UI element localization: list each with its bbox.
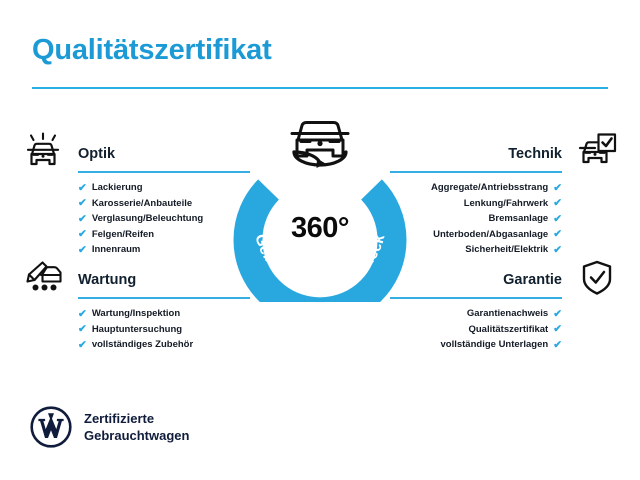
list-item-label: Lenkung/Fahrwerk (464, 196, 548, 212)
check-icon: ✔ (78, 183, 87, 194)
check-icon: ✔ (553, 183, 562, 194)
checklist-garantie: Garantienachweis✔ Qualitätszertifikat✔ v… (441, 306, 563, 353)
check-icon: ✔ (553, 229, 562, 240)
footer-line-2: Gebrauchtwagen (84, 427, 189, 444)
shield-check-icon (576, 258, 618, 298)
list-item-label: Hauptuntersuchung (92, 322, 182, 338)
list-item: Lenkung/Fahrwerk✔ (431, 196, 562, 212)
list-item-label: vollständige Unterlagen (441, 337, 549, 353)
quality-certificate-sheet: Qualitätszertifikat Optik (0, 0, 640, 480)
list-item: Garantienachweis✔ (441, 306, 563, 322)
badge-degrees-label: 360° (228, 212, 412, 245)
check-icon: ✔ (553, 324, 562, 335)
list-item-label: Karosserie/Anbauteile (92, 196, 192, 212)
section-heading: Garantie (503, 272, 562, 288)
check-icon: ✔ (553, 198, 562, 209)
checklist-technik: Aggregate/Antriebsstrang✔ Lenkung/Fahrwe… (431, 180, 562, 258)
checklist-optik: ✔Lackierung ✔Karosserie/Anbauteile ✔Verg… (78, 180, 203, 258)
page-title: Qualitätszertifikat (32, 34, 272, 67)
badge-360-gebrauchtwagen-check: Gebrauchtwagen-Check 360° (228, 112, 412, 302)
list-item-label: Garantienachweis (467, 306, 548, 322)
section-wartung: Wartung ✔Wartung/Inspektion ✔Hauptunters… (20, 254, 250, 359)
check-icon: ✔ (78, 198, 87, 209)
check-icon: ✔ (78, 309, 87, 320)
check-icon: ✔ (553, 340, 562, 351)
section-heading: Optik (78, 146, 115, 162)
section-divider (78, 171, 250, 173)
check-icon: ✔ (553, 309, 562, 320)
check-icon: ✔ (78, 229, 87, 240)
list-item: ✔Lackierung (78, 180, 203, 196)
list-item: ✔Hauptuntersuchung (78, 322, 193, 338)
list-item: ✔vollständiges Zubehör (78, 337, 193, 353)
section-technik: Technik Aggregate/Antriebsstrang✔ Lenkun… (390, 128, 620, 248)
check-icon: ✔ (553, 214, 562, 225)
list-item: ✔Karosserie/Anbauteile (78, 196, 203, 212)
list-item-label: Lackierung (92, 180, 143, 196)
list-item-label: Wartung/Inspektion (92, 306, 180, 322)
footer-line-1: Zertifizierte (84, 410, 189, 427)
section-divider (390, 297, 562, 299)
section-divider (390, 171, 562, 173)
list-item: vollständige Unterlagen✔ (441, 337, 563, 353)
section-garantie: Garantie Garantienachweis✔ Qualitätszert… (390, 254, 620, 359)
checklist-wartung: ✔Wartung/Inspektion ✔Hauptuntersuchung ✔… (78, 306, 193, 353)
car-sparkle-icon (22, 132, 64, 172)
list-item: Bremsanlage✔ (431, 211, 562, 227)
list-item-label: Aggregate/Antriebsstrang (431, 180, 548, 196)
section-heading: Wartung (78, 272, 136, 288)
volkswagen-logo (30, 406, 72, 448)
list-item: Unterboden/Abgasanlage✔ (431, 227, 562, 243)
title-divider (32, 87, 608, 89)
check-icon: ✔ (78, 324, 87, 335)
list-item-label: Verglasung/Beleuchtung (92, 211, 203, 227)
section-optik: Optik ✔Lackierung ✔Karosserie/Anbauteile… (20, 128, 250, 248)
list-item: ✔Felgen/Reifen (78, 227, 203, 243)
list-item-label: vollständiges Zubehör (92, 337, 193, 353)
list-item-label: Unterboden/Abgasanlage (433, 227, 548, 243)
list-item: Qualitätszertifikat✔ (441, 322, 563, 338)
list-item: ✔Verglasung/Beleuchtung (78, 211, 203, 227)
list-item-label: Bremsanlage (489, 211, 549, 227)
section-divider (78, 297, 250, 299)
list-item: Aggregate/Antriebsstrang✔ (431, 180, 562, 196)
list-item: ✔Wartung/Inspektion (78, 306, 193, 322)
check-icon: ✔ (78, 340, 87, 351)
list-item-label: Felgen/Reifen (92, 227, 154, 243)
list-item-label: Qualitätszertifikat (468, 322, 548, 338)
footer-text: Zertifizierte Gebrauchtwagen (84, 410, 189, 444)
section-heading: Technik (508, 146, 562, 162)
pen-service-car-icon (22, 258, 64, 298)
check-icon: ✔ (78, 214, 87, 225)
car-checkbox-icon (576, 132, 618, 172)
